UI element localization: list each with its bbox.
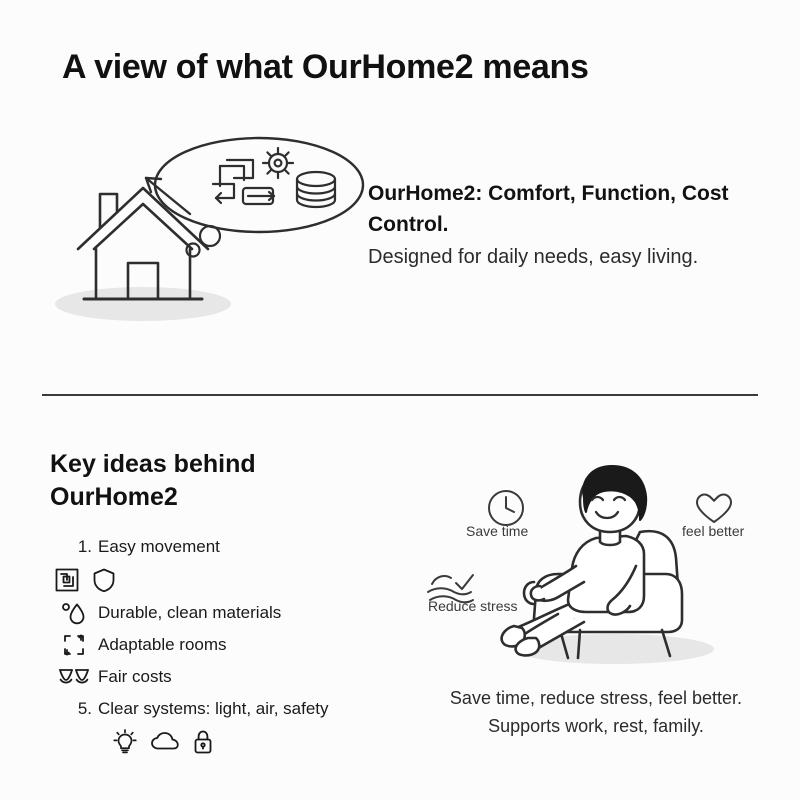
list-item: 5. Clear systems: light, air, safety xyxy=(50,694,400,724)
benefit-label-reduce-stress: Reduce stress xyxy=(428,598,517,614)
list-item-label: Adaptable rooms xyxy=(98,635,227,655)
house-shadow xyxy=(55,287,231,321)
infographic-page: A view of what OurHome2 means xyxy=(0,0,800,800)
hero-text-block: OurHome2: Comfort, Function, Cost Contro… xyxy=(368,178,760,272)
shield-icon xyxy=(92,567,116,593)
list-item-label: Easy movement xyxy=(98,537,220,557)
list-item: Fair costs xyxy=(50,662,400,692)
list-item-icons xyxy=(50,726,400,758)
list-item: 1. Easy movement xyxy=(50,532,400,562)
hero-subtext: Designed for daily needs, easy living. xyxy=(368,242,760,272)
list-item-icons xyxy=(50,564,400,596)
page-title: A view of what OurHome2 means xyxy=(62,48,589,87)
thought-bubble-dot-small xyxy=(187,244,200,257)
list-item-label: Durable, clean materials xyxy=(98,603,281,623)
house-thought-bubble-illustration xyxy=(38,132,368,342)
relax-caption-line-1: Save time, reduce stress, feel better. xyxy=(410,684,782,712)
scales-balance-icon xyxy=(50,665,98,689)
lightbulb-icon xyxy=(112,728,138,756)
section-heading: Key ideas behind OurHome2 xyxy=(50,448,350,514)
cloud-icon xyxy=(150,731,180,753)
list-item: Adaptable rooms xyxy=(50,630,400,660)
clock-icon xyxy=(489,491,523,525)
lock-icon xyxy=(192,729,214,755)
database-icon xyxy=(297,172,335,207)
relax-caption-line-2: Supports work, rest, family. xyxy=(410,712,782,740)
key-ideas-list: 1. Easy movement xyxy=(50,532,400,760)
droplet-icon xyxy=(50,600,98,626)
relax-caption: Save time, reduce stress, feel better. S… xyxy=(410,684,782,740)
benefit-label-feel-better: feel better xyxy=(682,523,744,539)
section-divider xyxy=(42,394,758,396)
list-item: Durable, clean materials xyxy=(50,598,400,628)
list-item-number: 5. xyxy=(50,699,98,719)
hero-headline: OurHome2: Comfort, Function, Cost Contro… xyxy=(368,178,760,240)
list-item-number: 1. xyxy=(50,537,98,557)
person-relaxing-illustration xyxy=(418,462,782,677)
benefit-label-save-time: Save time xyxy=(466,523,528,539)
list-item-label: Fair costs xyxy=(98,667,172,687)
house-icon xyxy=(78,188,208,299)
flow-diagram-icon xyxy=(213,160,274,204)
gear-icon xyxy=(263,148,293,178)
heart-icon xyxy=(697,495,731,523)
floorplan-maze-icon xyxy=(54,567,80,593)
list-item-label: Clear systems: light, air, safety xyxy=(98,699,329,719)
resize-expand-icon xyxy=(50,632,98,658)
thought-bubble xyxy=(155,138,363,232)
